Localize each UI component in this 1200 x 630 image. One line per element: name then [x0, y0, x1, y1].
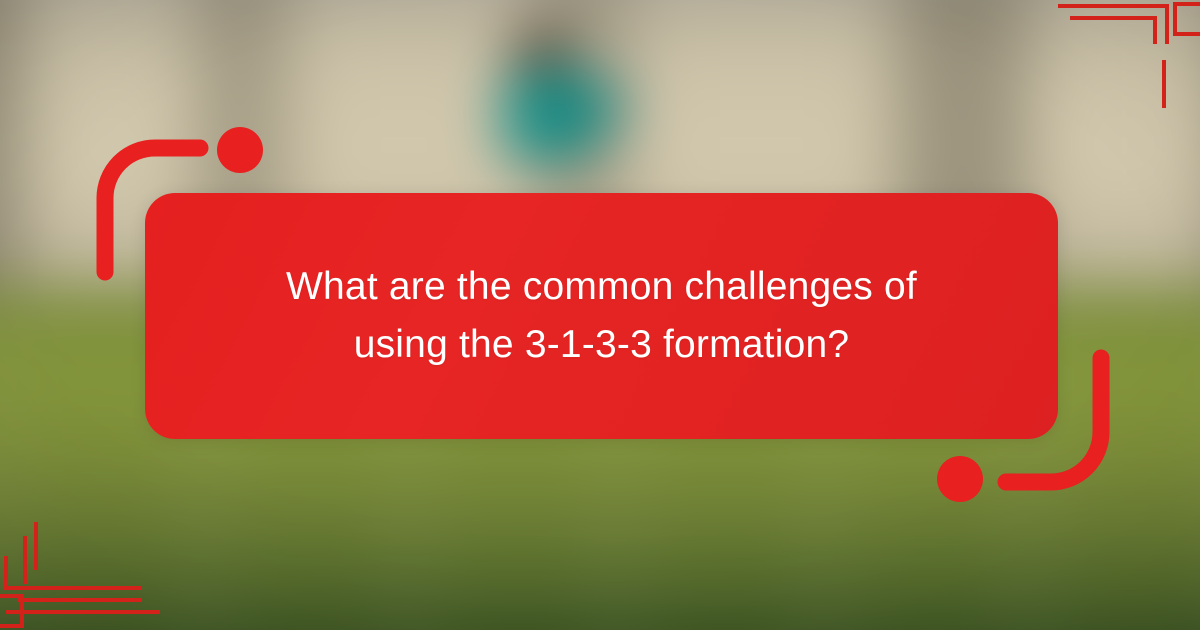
- question-card-graphic: What are the common challenges of using …: [0, 0, 1200, 630]
- player-figure-arm: [578, 85, 625, 130]
- dot-bottom-right: [937, 456, 983, 502]
- player-figure-head: [515, 27, 564, 76]
- question-text: What are the common challenges of using …: [222, 258, 982, 373]
- question-card: What are the common challenges of using …: [145, 193, 1058, 439]
- dot-top-left: [217, 127, 263, 173]
